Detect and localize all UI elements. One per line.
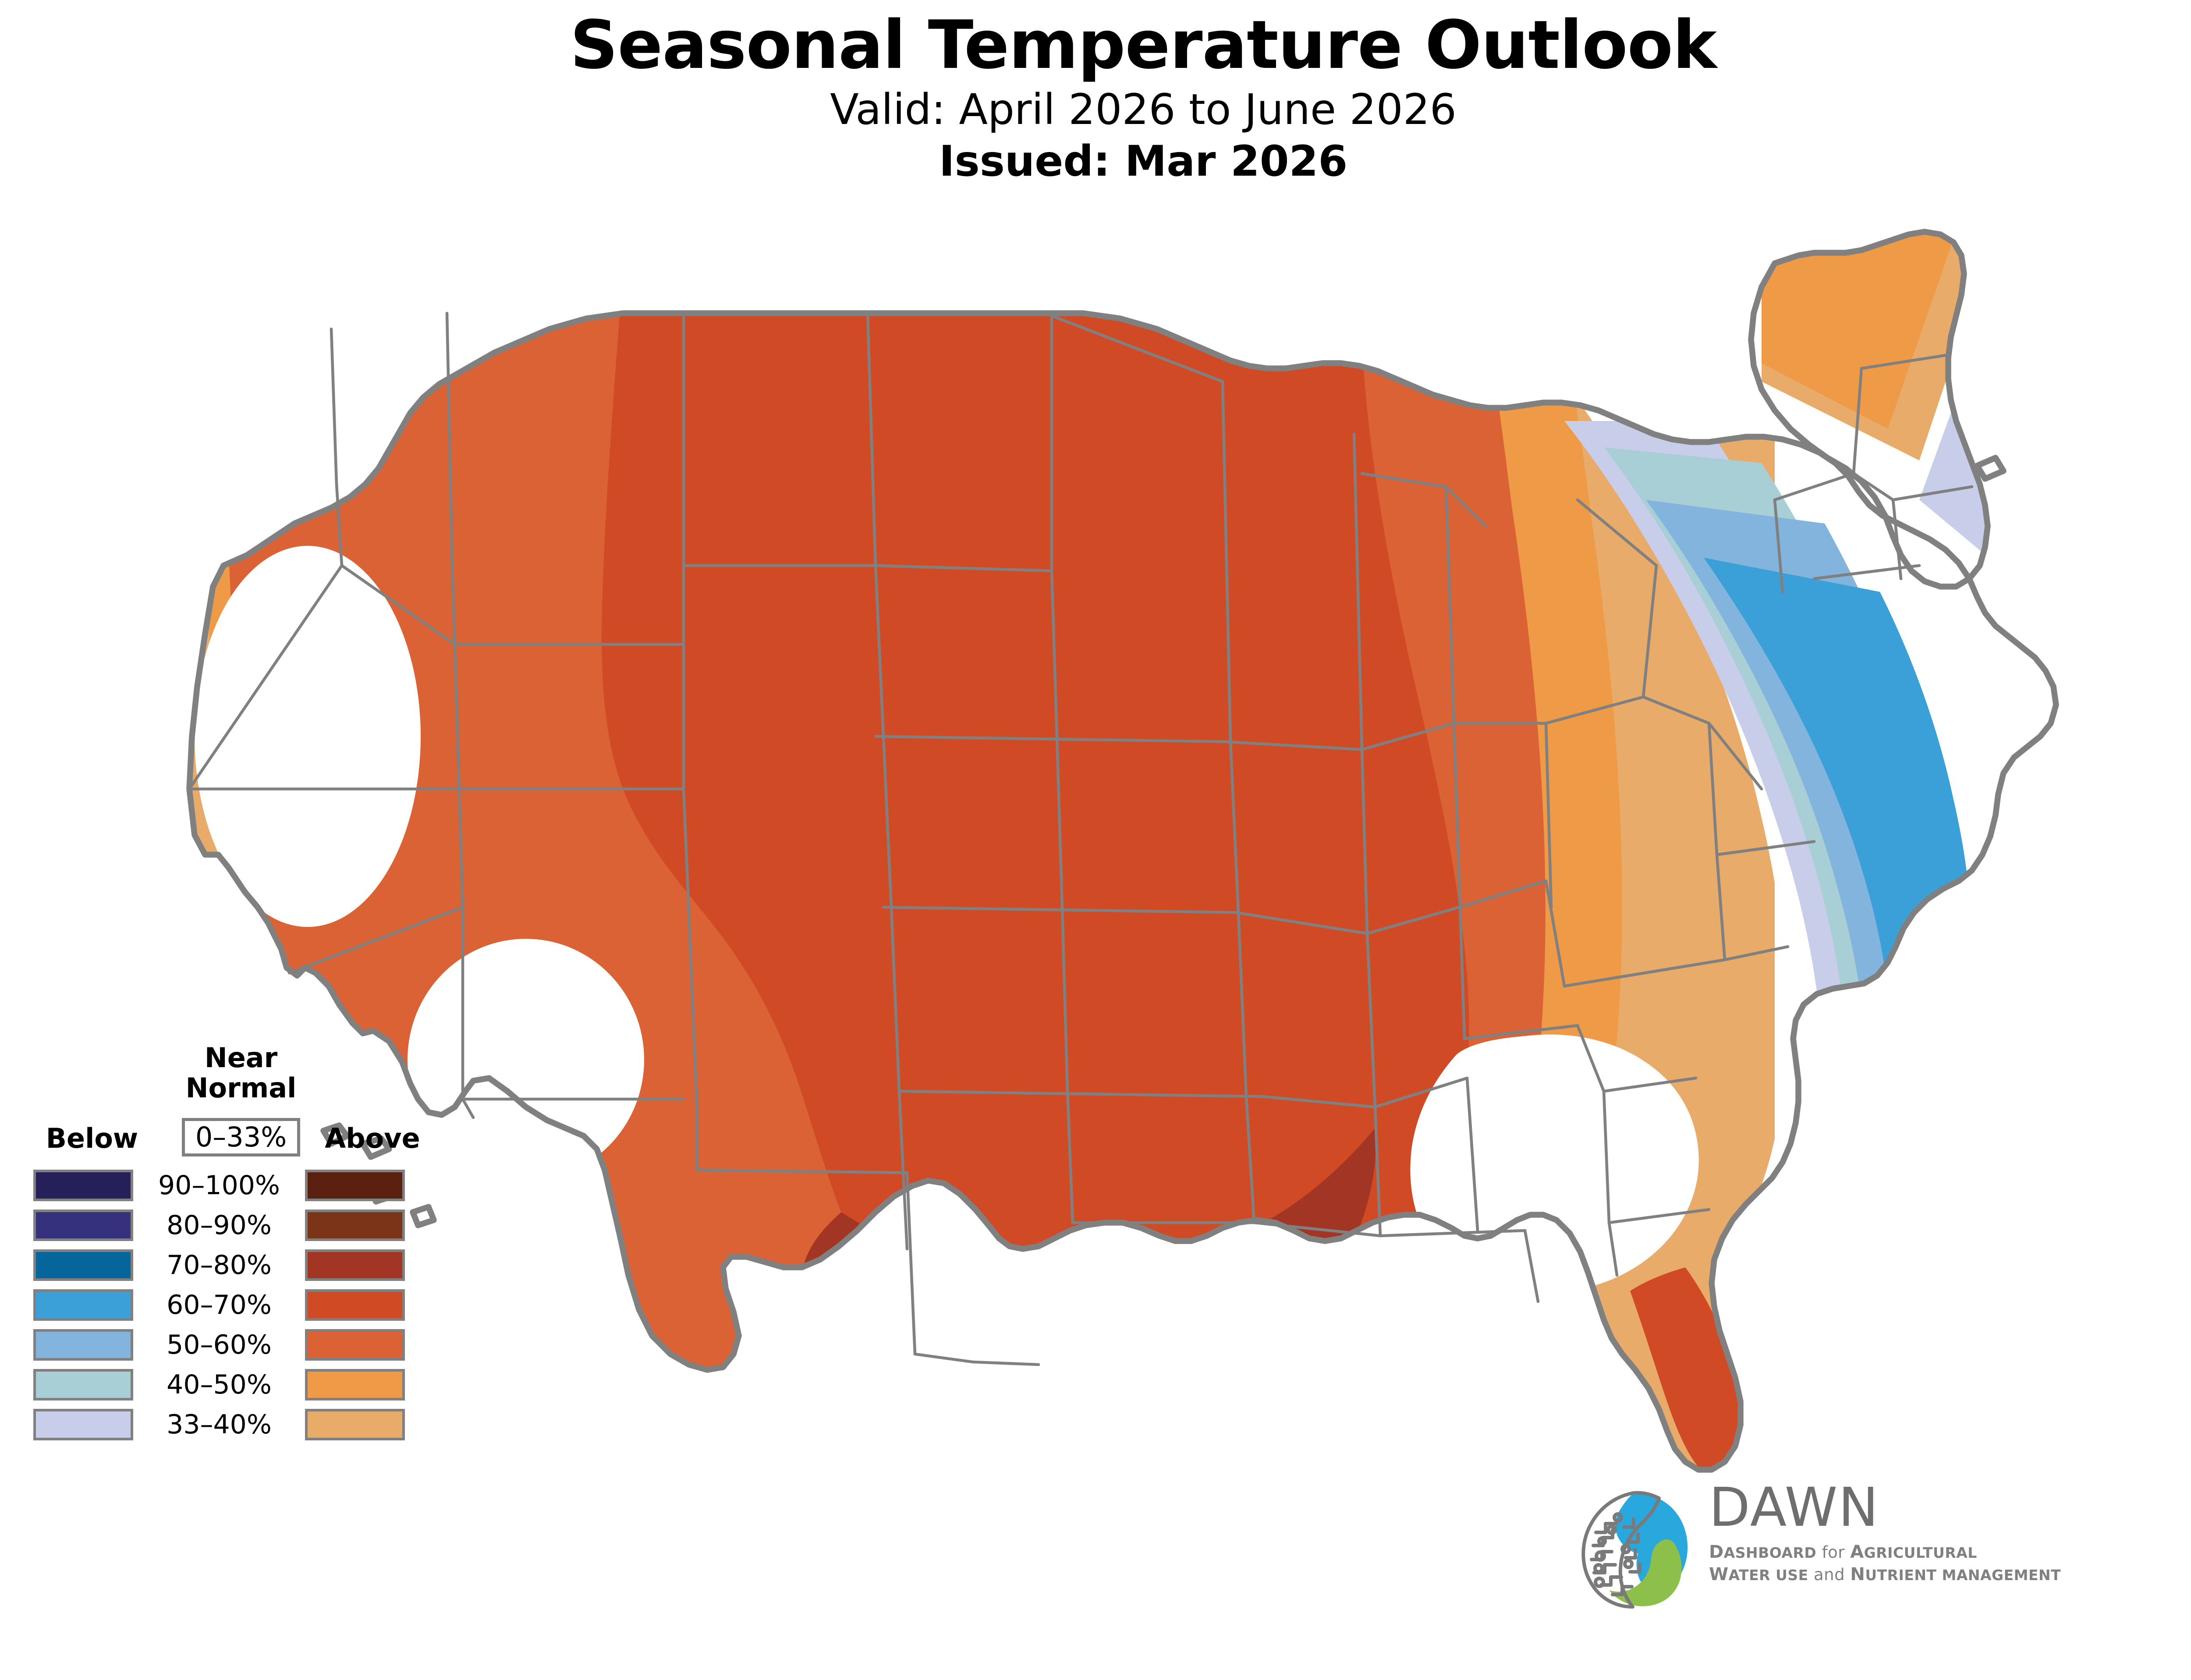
- legend-swatch-above: [305, 1409, 405, 1440]
- dawn-wordmark: DAWN: [1709, 1481, 2086, 1534]
- legend-swatch-below: [33, 1210, 133, 1241]
- legend-row: 33–40%: [26, 1404, 447, 1444]
- legend-row: 80–90%: [26, 1205, 447, 1245]
- legend-swatch-above: [305, 1210, 405, 1241]
- legend-row-label: 40–50%: [133, 1372, 305, 1398]
- dawn-tagline-line1: DASHBOARD for AGRICULTURAL: [1709, 1534, 2086, 1563]
- dawn-tagline-line2: WATER USE and NUTRIENT MANAGEMENT: [1709, 1563, 2086, 1586]
- legend: Near Normal 0–33% Below Above 90–100% 80…: [26, 1043, 447, 1634]
- page-title: Seasonal Temperature Outlook: [0, 0, 2191, 80]
- legend-swatch-below: [33, 1329, 133, 1361]
- legend-swatch-below: [33, 1289, 133, 1321]
- dawn-logo-mark: [1569, 1478, 1700, 1609]
- legend-swatch-below: [33, 1409, 133, 1440]
- legend-swatch-below: [33, 1170, 133, 1201]
- legend-swatch-above: [305, 1249, 405, 1281]
- legend-swatch-below: [33, 1369, 133, 1401]
- region-above-80-90-texascoast: [862, 1280, 970, 1383]
- legend-near-normal-value: 0–33%: [195, 1124, 287, 1151]
- legend-row-label: 60–70%: [133, 1292, 305, 1318]
- region-above-70-80-washington: [258, 308, 331, 487]
- legend-swatch-above: [305, 1289, 405, 1321]
- legend-near-normal-box: 0–33%: [182, 1118, 300, 1157]
- legend-row-label: 90–100%: [133, 1172, 305, 1199]
- legend-row: 70–80%: [26, 1245, 447, 1285]
- valid-period-text: Valid: April 2026 to June 2026: [0, 80, 2191, 133]
- legend-below-title: Below: [26, 1122, 158, 1154]
- header-block: Seasonal Temperature Outlook Valid: Apri…: [0, 0, 2191, 184]
- legend-near-normal-title: Near Normal: [171, 1043, 311, 1103]
- outlook-figure: Seasonal Temperature Outlook Valid: Apri…: [0, 0, 2191, 1680]
- legend-row-label: 80–90%: [133, 1212, 305, 1238]
- legend-rows: 90–100% 80–90% 70–80% 60–70% 50–60%: [26, 1165, 447, 1444]
- legend-row-label: 33–40%: [133, 1411, 305, 1438]
- dawn-logo-text: DAWN DASHBOARD for AGRICULTURAL WATER US…: [1709, 1481, 2086, 1586]
- legend-row: 60–70%: [26, 1285, 447, 1325]
- legend-swatch-above: [305, 1170, 405, 1201]
- legend-swatch-above: [305, 1369, 405, 1401]
- dawn-logo: DAWN DASHBOARD for AGRICULTURAL WATER US…: [1569, 1476, 2086, 1621]
- legend-swatch-above: [305, 1329, 405, 1361]
- legend-above-title: Above: [307, 1122, 438, 1154]
- legend-row: 40–50%: [26, 1365, 447, 1404]
- legend-row-label: 70–80%: [133, 1252, 305, 1278]
- legend-swatch-below: [33, 1249, 133, 1281]
- legend-row-label: 50–60%: [133, 1332, 305, 1358]
- legend-row: 50–60%: [26, 1325, 447, 1365]
- legend-row: 90–100%: [26, 1165, 447, 1205]
